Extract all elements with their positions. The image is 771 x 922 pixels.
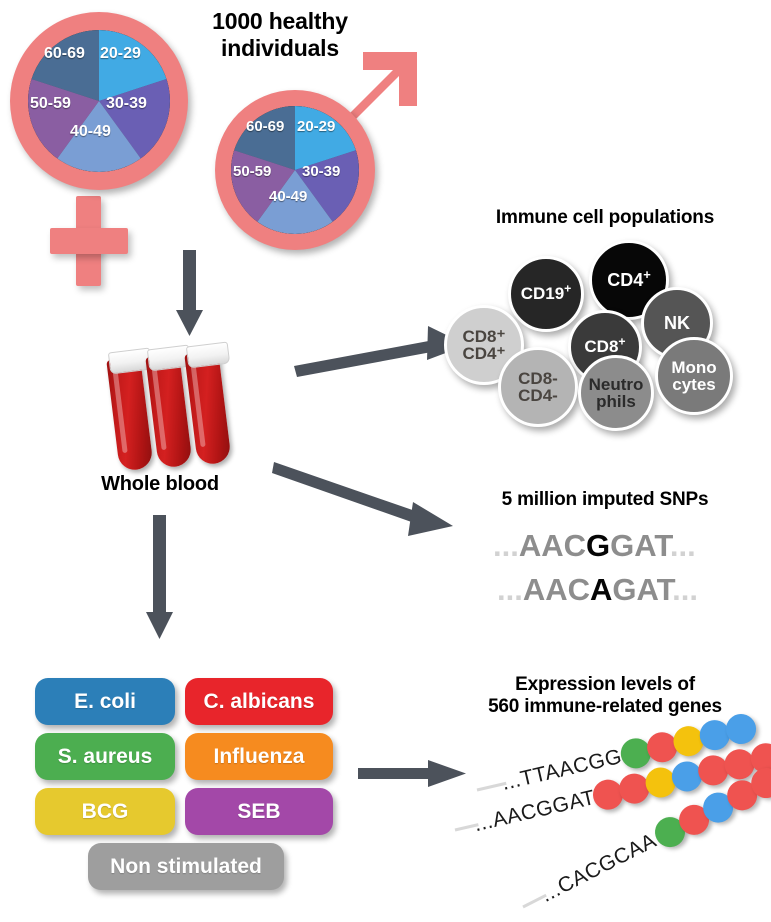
snp-sequence-block: ...AACGGAT......AACAGAT... bbox=[493, 528, 753, 618]
snps-title: 5 million imputed SNPs bbox=[450, 489, 760, 511]
gene-expression-strands: ...TTAACGG...AACGGAT...CACGCAA bbox=[455, 735, 771, 915]
stimulus-c-albicans[interactable]: C. albicans bbox=[185, 678, 333, 725]
expression-title: Expression levels of 560 immune-related … bbox=[440, 674, 770, 719]
expression-title-line1: Expression levels of bbox=[440, 674, 770, 696]
stimuli-panel: E. coliC. albicansS. aureusInfluenzaBCGS… bbox=[0, 0, 400, 922]
stimulus-e-coli[interactable]: E. coli bbox=[35, 678, 175, 725]
snp-base-group: ... bbox=[497, 572, 523, 607]
immune-cell-label: CD8⁺CD4⁺ bbox=[463, 328, 506, 363]
snp-base-group: GAT bbox=[610, 528, 670, 563]
stimulus-non-stimulated[interactable]: Non stimulated bbox=[88, 843, 284, 890]
stimulus-label: C. albicans bbox=[204, 690, 315, 714]
stimulus-label: SEB bbox=[237, 800, 280, 824]
immune-cell-neutrophils: Neutrophils bbox=[578, 355, 654, 431]
immune-cell-label: NK bbox=[664, 314, 690, 332]
stimulus-label: Influenza bbox=[213, 745, 304, 769]
stimulus-label: BCG bbox=[82, 800, 129, 824]
snp-base-group: AAC bbox=[519, 528, 586, 563]
immune-cell-label: Monocytes bbox=[671, 359, 716, 394]
snp-base-group: GAT bbox=[612, 572, 672, 607]
strand-sequence: ...CACGCAA bbox=[537, 829, 660, 908]
snp-base-group: ... bbox=[672, 572, 698, 607]
immune-cell-label: CD4+ bbox=[607, 271, 651, 289]
stimulus-label: Non stimulated bbox=[110, 855, 262, 879]
stimulus-bcg[interactable]: BCG bbox=[35, 788, 175, 835]
snp-base-group: AAC bbox=[523, 572, 590, 607]
immune-cell-cd19-positive: CD19+ bbox=[508, 256, 584, 332]
study-design-figure: 1000 healthy individuals 20-29 30-39 40-… bbox=[0, 0, 771, 922]
snp-base-group: ... bbox=[493, 528, 519, 563]
immune-cell-label: CD8-CD4- bbox=[518, 370, 558, 405]
stimulus-seb[interactable]: SEB bbox=[185, 788, 333, 835]
immune-cell-label: CD8+ bbox=[584, 338, 625, 355]
snp-base-group: G bbox=[586, 528, 610, 563]
immune-cell-monocytes: Monocytes bbox=[655, 337, 733, 415]
immune-cell-label: CD19+ bbox=[521, 285, 572, 302]
immune-cell-cd8-cd4-double-negative: CD8-CD4- bbox=[498, 347, 578, 427]
snp-allele-row-a: ...AACAGAT... bbox=[497, 572, 698, 608]
stimulus-label: S. aureus bbox=[58, 745, 153, 769]
stimulus-label: E. coli bbox=[74, 690, 136, 714]
snp-base-group: A bbox=[590, 572, 612, 607]
stimulus-s-aureus[interactable]: S. aureus bbox=[35, 733, 175, 780]
snp-base-group: ... bbox=[670, 528, 696, 563]
immune-cell-label: Neutrophils bbox=[589, 376, 644, 411]
stimulus-influenza[interactable]: Influenza bbox=[185, 733, 333, 780]
snp-allele-row-g: ...AACGGAT... bbox=[493, 528, 696, 564]
